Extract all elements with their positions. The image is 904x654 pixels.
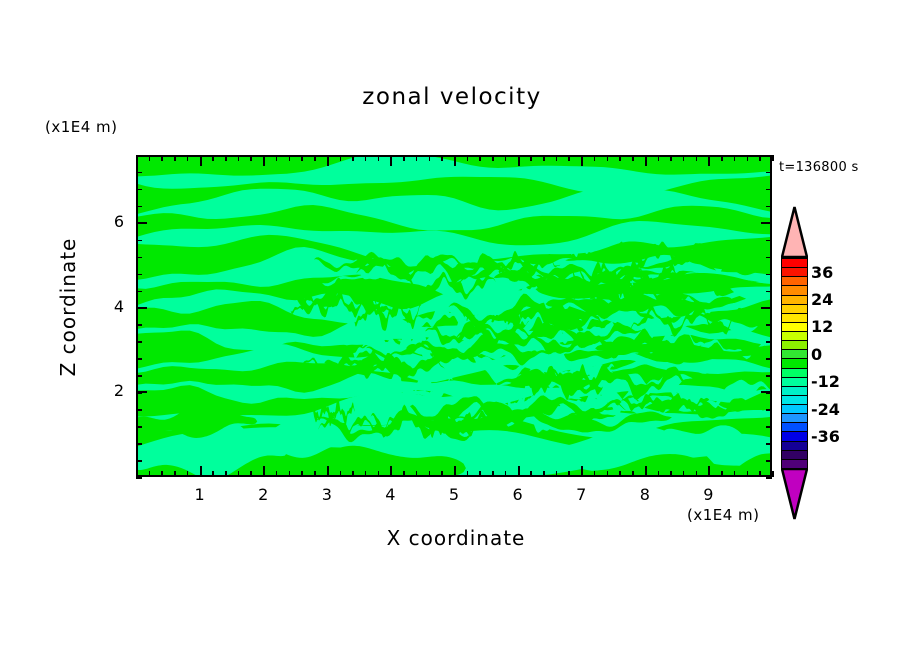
- tick-mark: [136, 324, 142, 326]
- tick-mark: [136, 341, 142, 343]
- tick-mark: [670, 155, 672, 161]
- tick-mark: [658, 155, 660, 161]
- tick-mark: [340, 155, 342, 161]
- tick-mark: [174, 155, 176, 161]
- tick-mark: [441, 155, 443, 161]
- tick-mark: [766, 358, 772, 360]
- tick-mark: [759, 155, 761, 161]
- tick-mark: [766, 240, 772, 242]
- tick-mark: [772, 155, 774, 161]
- tick-mark: [568, 155, 570, 161]
- x-tick-label: 3: [307, 485, 347, 504]
- x-tick-label: 9: [688, 485, 728, 504]
- tick-mark: [365, 471, 367, 477]
- tick-mark: [619, 155, 621, 161]
- colorbar-label: 36: [811, 263, 833, 282]
- tick-mark: [352, 471, 354, 477]
- tick-mark: [766, 274, 772, 276]
- tick-mark: [136, 274, 142, 276]
- tick-mark: [721, 155, 723, 161]
- tick-mark: [441, 471, 443, 477]
- tick-mark: [301, 471, 303, 477]
- tick-mark: [766, 189, 772, 191]
- tick-mark: [766, 172, 772, 174]
- chart-title: zonal velocity: [0, 84, 904, 110]
- tick-mark: [658, 471, 660, 477]
- tick-mark: [225, 155, 227, 161]
- tick-mark: [212, 471, 214, 477]
- tick-mark: [492, 471, 494, 477]
- tick-mark: [263, 155, 265, 166]
- tick-mark: [136, 257, 142, 259]
- tick-mark: [766, 257, 772, 259]
- tick-mark: [556, 155, 558, 161]
- tick-mark: [766, 291, 772, 293]
- tick-mark: [136, 358, 142, 360]
- tick-mark: [766, 426, 772, 428]
- tick-mark: [136, 189, 142, 191]
- tick-mark: [250, 155, 252, 161]
- tick-mark: [632, 155, 634, 161]
- tick-mark: [581, 466, 583, 477]
- tick-mark: [276, 155, 278, 161]
- tick-mark: [479, 155, 481, 161]
- y-axis-unit-label: (x1E4 m): [45, 118, 118, 136]
- colorbar-label: -12: [811, 372, 840, 391]
- tick-mark: [505, 155, 507, 161]
- tick-mark: [479, 471, 481, 477]
- tick-mark: [136, 155, 138, 161]
- tick-mark: [136, 460, 142, 462]
- tick-mark: [225, 471, 227, 477]
- tick-mark: [619, 471, 621, 477]
- contour-field: [138, 157, 770, 475]
- colorbar: 3624120-12-24-36: [781, 258, 808, 468]
- tick-mark: [454, 155, 456, 166]
- y-axis-title: Z coordinate: [56, 207, 80, 407]
- tick-mark: [136, 426, 142, 428]
- tick-mark: [766, 206, 772, 208]
- tick-mark: [568, 471, 570, 477]
- tick-mark: [581, 155, 583, 166]
- y-tick-label: 4: [94, 297, 124, 316]
- tick-mark: [327, 155, 329, 166]
- tick-mark: [136, 240, 142, 242]
- x-tick-label: 1: [180, 485, 220, 504]
- tick-mark: [645, 466, 647, 477]
- tick-mark: [594, 155, 596, 161]
- x-axis-title: X coordinate: [236, 526, 676, 550]
- tick-mark: [200, 466, 202, 477]
- tick-mark: [670, 471, 672, 477]
- colorbar-label: 24: [811, 290, 833, 309]
- tick-mark: [340, 471, 342, 477]
- tick-mark: [174, 471, 176, 477]
- tick-mark: [390, 155, 392, 166]
- tick-mark: [696, 155, 698, 161]
- tick-mark: [766, 409, 772, 411]
- tick-mark: [416, 155, 418, 161]
- tick-mark: [238, 155, 240, 161]
- tick-mark: [429, 471, 431, 477]
- tick-mark: [429, 155, 431, 161]
- tick-mark: [238, 471, 240, 477]
- tick-mark: [607, 155, 609, 161]
- tick-mark: [327, 466, 329, 477]
- tick-mark: [136, 409, 142, 411]
- tick-mark: [378, 471, 380, 477]
- time-annotation: t=136800 s: [779, 160, 859, 175]
- tick-mark: [276, 471, 278, 477]
- tick-mark: [136, 443, 142, 445]
- tick-mark: [352, 155, 354, 161]
- tick-mark: [772, 471, 774, 477]
- tick-mark: [187, 471, 189, 477]
- colorbar-label: -36: [811, 427, 840, 446]
- tick-mark: [161, 155, 163, 161]
- tick-mark: [696, 471, 698, 477]
- x-tick-label: 6: [498, 485, 538, 504]
- tick-mark: [403, 155, 405, 161]
- tick-mark: [505, 471, 507, 477]
- tick-mark: [161, 471, 163, 477]
- tick-mark: [747, 155, 749, 161]
- tick-mark: [136, 375, 142, 377]
- tick-mark: [467, 471, 469, 477]
- x-tick-label: 7: [561, 485, 601, 504]
- contour-plot-area: [136, 155, 772, 477]
- x-axis-unit-label: (x1E4 m): [687, 506, 760, 524]
- tick-mark: [518, 155, 520, 166]
- tick-mark: [136, 307, 147, 309]
- tick-mark: [314, 155, 316, 161]
- tick-mark: [136, 222, 147, 224]
- tick-mark: [747, 471, 749, 477]
- tick-mark: [187, 155, 189, 161]
- tick-mark: [766, 460, 772, 462]
- tick-mark: [708, 466, 710, 477]
- colorbar-label: 12: [811, 317, 833, 336]
- tick-mark: [759, 471, 761, 477]
- tick-mark: [136, 477, 142, 479]
- tick-mark: [766, 477, 772, 479]
- tick-mark: [594, 471, 596, 477]
- tick-mark: [136, 206, 142, 208]
- tick-mark: [766, 375, 772, 377]
- tick-mark: [378, 155, 380, 161]
- colorbar-label: -24: [811, 400, 840, 419]
- colorbar-under-arrow: [781, 468, 808, 520]
- y-tick-label: 2: [94, 381, 124, 400]
- tick-mark: [530, 155, 532, 161]
- tick-mark: [136, 391, 147, 393]
- y-tick-label: 6: [94, 212, 124, 231]
- tick-mark: [645, 155, 647, 166]
- tick-mark: [149, 471, 151, 477]
- colorbar-label: 0: [811, 345, 822, 364]
- tick-mark: [263, 466, 265, 477]
- tick-mark: [683, 471, 685, 477]
- tick-mark: [403, 471, 405, 477]
- tick-mark: [530, 471, 532, 477]
- tick-mark: [289, 155, 291, 161]
- tick-mark: [212, 155, 214, 161]
- tick-mark: [761, 391, 772, 393]
- tick-mark: [365, 155, 367, 161]
- tick-mark: [149, 155, 151, 161]
- tick-mark: [314, 471, 316, 477]
- tick-mark: [543, 471, 545, 477]
- tick-mark: [136, 291, 142, 293]
- x-tick-label: 8: [625, 485, 665, 504]
- tick-mark: [301, 155, 303, 161]
- tick-mark: [467, 155, 469, 161]
- tick-mark: [200, 155, 202, 166]
- tick-mark: [761, 222, 772, 224]
- tick-mark: [734, 155, 736, 161]
- colorbar-over-arrow: [781, 206, 808, 258]
- tick-mark: [289, 471, 291, 477]
- tick-mark: [683, 155, 685, 161]
- tick-mark: [632, 471, 634, 477]
- tick-mark: [766, 443, 772, 445]
- tick-mark: [543, 155, 545, 161]
- x-tick-label: 2: [243, 485, 283, 504]
- tick-mark: [492, 155, 494, 161]
- tick-mark: [607, 471, 609, 477]
- tick-mark: [454, 466, 456, 477]
- tick-mark: [766, 324, 772, 326]
- tick-mark: [761, 307, 772, 309]
- tick-mark: [250, 471, 252, 477]
- tick-mark: [556, 471, 558, 477]
- tick-mark: [734, 471, 736, 477]
- tick-mark: [390, 466, 392, 477]
- x-tick-label: 5: [434, 485, 474, 504]
- tick-mark: [136, 172, 142, 174]
- tick-mark: [721, 471, 723, 477]
- tick-mark: [708, 155, 710, 166]
- x-tick-label: 4: [370, 485, 410, 504]
- tick-mark: [766, 341, 772, 343]
- tick-mark: [416, 471, 418, 477]
- tick-mark: [518, 466, 520, 477]
